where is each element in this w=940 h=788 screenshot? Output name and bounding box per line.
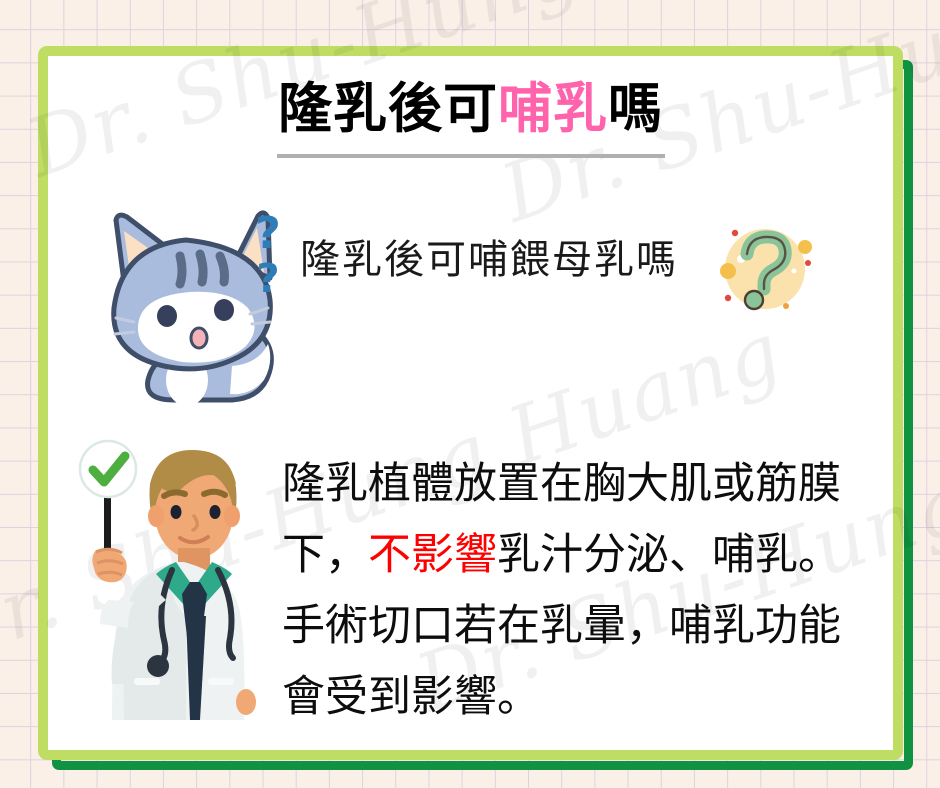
answer-line: 下，不影響乳汁分泌、哺乳。 (282, 520, 882, 591)
question-text: 隆乳後可哺餵母乳嗎 (300, 234, 678, 286)
answer-segment: 乳汁分泌、哺乳。 (497, 530, 841, 580)
answer-line: 隆乳植體放置在胸大肌或筋膜 (282, 449, 882, 520)
poster-content: 隆乳後可哺乳嗎 (0, 0, 940, 788)
question-mark-small: ? (256, 256, 279, 298)
check-sign-icon (70, 433, 146, 514)
title-block: 隆乳後可哺乳嗎 (48, 78, 893, 158)
title-divider (277, 154, 665, 158)
answer-text: 隆乳植體放置在胸大肌或筋膜 下，不影響乳汁分泌、哺乳。 手術切口若在乳暈，哺乳功… (282, 449, 882, 733)
answer-segment-emphasis: 不影響 (368, 530, 497, 580)
answer-line: 會受到影響。 (282, 662, 882, 733)
answer-segment: 會受到影響。 (282, 672, 540, 722)
title-part1: 隆乳後可 (278, 77, 498, 140)
question-mark-large: ? (255, 208, 281, 259)
question-section: ? ? 隆乳後可哺餵母乳嗎 (60, 196, 890, 411)
title-part2: 嗎 (608, 77, 663, 140)
answer-segment: 隆乳植體放置在胸大肌或筋膜 (282, 459, 841, 509)
question-badge-icon (708, 214, 818, 329)
title-highlight: 哺乳 (498, 77, 608, 140)
answer-section: 隆乳植體放置在胸大肌或筋膜 下，不影響乳汁分泌、哺乳。 手術切口若在乳暈，哺乳功… (60, 425, 890, 725)
answer-segment: 下， (282, 530, 368, 580)
answer-segment: 手術切口若在乳暈，哺乳功能 (282, 601, 841, 651)
poster-canvas: Dr. Shu-Hung Huang Dr. Shu-Hung Huang Dr… (0, 0, 940, 788)
page-title: 隆乳後可哺乳嗎 (48, 78, 893, 140)
answer-line: 手術切口若在乳暈，哺乳功能 (282, 591, 882, 662)
